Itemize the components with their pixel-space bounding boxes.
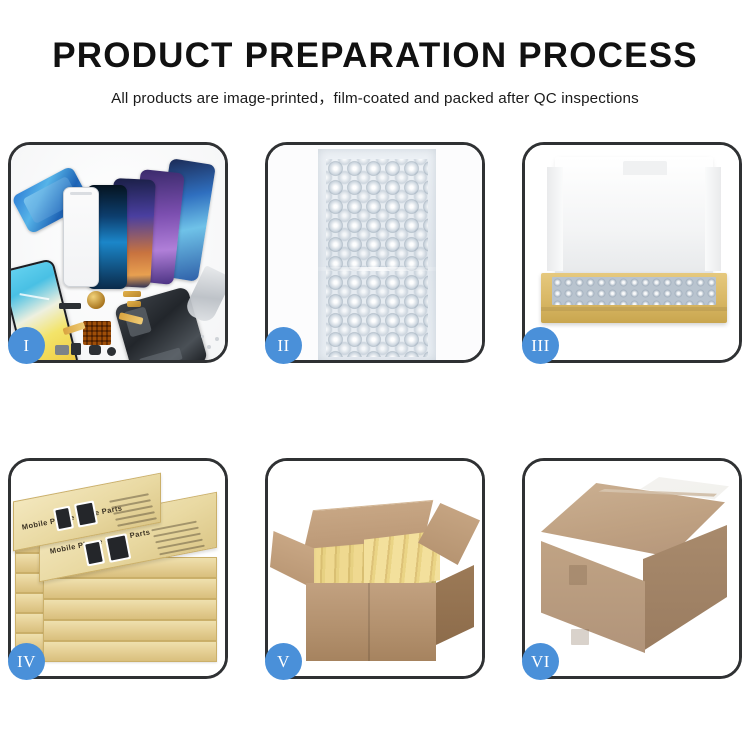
page-subtitle: All products are image-printed，film-coat… <box>0 73 750 108</box>
button-part-icon <box>107 347 116 356</box>
step-image-6 <box>525 461 739 676</box>
bubble-pattern-offset <box>326 159 428 357</box>
tray-lip <box>541 307 727 311</box>
stacked-box-r3 <box>43 599 217 620</box>
open-carton-illustration <box>268 461 482 676</box>
page-header: PRODUCT PREPARATION PROCESS All products… <box>0 0 750 108</box>
step-image-1 <box>11 145 225 360</box>
step-badge-5: V <box>265 643 302 680</box>
step-badge-1: I <box>8 327 45 364</box>
stacked-boxes-illustration: Mobile Phone Spare Parts Mobile Phone Sp… <box>11 461 225 676</box>
carton-patch-lower <box>571 629 589 645</box>
pouch-seam <box>318 267 436 271</box>
tray-bubble-contents <box>552 277 716 305</box>
inner-box-illustration <box>525 145 739 360</box>
stacked-box-r2 <box>43 578 217 599</box>
sealed-carton-illustration <box>525 461 739 676</box>
carton-patch-upper <box>569 565 587 585</box>
step-badge-6: VI <box>522 643 559 680</box>
step-card-6[interactable]: VI <box>522 458 742 679</box>
step-card-5[interactable]: V <box>265 458 485 679</box>
step-badge-4: IV <box>8 643 45 680</box>
bubble-pouch-icon <box>318 149 436 360</box>
step-badge-3: III <box>522 327 559 364</box>
small-part-icon <box>59 303 81 309</box>
stacked-box-r4 <box>43 620 217 641</box>
step-card-2[interactable]: II <box>265 142 485 363</box>
step-card-1[interactable]: I <box>8 142 228 363</box>
sim-tray-icon <box>55 345 69 355</box>
step-badge-2: II <box>265 327 302 364</box>
screw-3-icon <box>201 335 204 338</box>
gold-connector-icon <box>123 291 141 297</box>
screw-2-icon <box>215 337 219 341</box>
bubble-wrap-illustration <box>268 145 482 360</box>
carton-seam <box>368 583 370 661</box>
coil-part-icon <box>87 291 105 309</box>
step-image-5 <box>268 461 482 676</box>
gold-connector-2-icon <box>127 301 141 307</box>
box-art-screen-t2 <box>74 500 98 527</box>
box-lid-icon <box>555 157 713 279</box>
phone-screen-e-icon <box>63 187 99 287</box>
step-image-3 <box>525 145 739 360</box>
step-card-4[interactable]: Mobile Phone Spare Parts Mobile Phone Sp… <box>8 458 228 679</box>
carton-left-panel <box>541 541 645 653</box>
camera-module-icon <box>71 343 81 355</box>
page-title: PRODUCT PREPARATION PROCESS <box>0 0 750 73</box>
phone-parts-illustration <box>11 145 225 360</box>
ic-chip-icon <box>83 321 111 345</box>
speaker-icon <box>89 345 101 355</box>
screw-icon <box>207 345 211 349</box>
step-image-2 <box>268 145 482 360</box>
stacked-box-r5 <box>43 641 217 662</box>
carton-side-panel <box>436 565 474 645</box>
step-image-4: Mobile Phone Spare Parts Mobile Phone Sp… <box>11 461 225 676</box>
box-tray-icon <box>541 273 727 323</box>
box-lid-tab <box>623 161 667 175</box>
box-art-screen-m2 <box>105 533 132 563</box>
process-steps-grid: I II <box>8 142 742 679</box>
step-card-3[interactable]: III <box>522 142 742 363</box>
carton-front-panel <box>306 583 436 661</box>
